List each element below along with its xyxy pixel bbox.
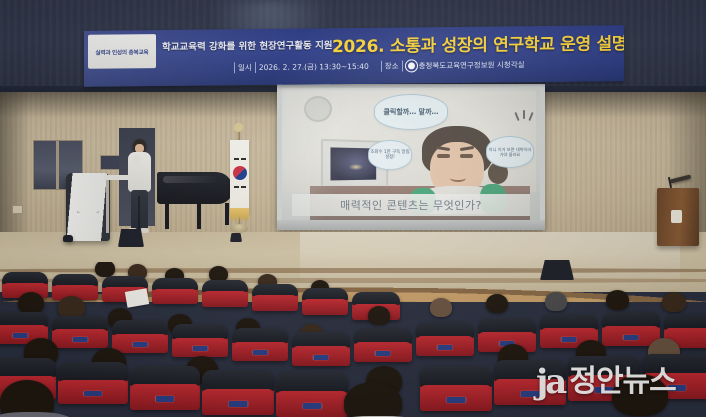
seat[interactable]	[292, 332, 350, 366]
audience-head	[430, 298, 452, 317]
seat[interactable]	[130, 366, 200, 410]
slide-caption: 매력적인 콘텐츠는 무엇인가?	[292, 194, 530, 216]
seat[interactable]	[302, 288, 348, 315]
event-banner: 실력과 인성의 충북교육 학교교육력 강화를 위한 현장연구활동 지원 2026…	[84, 25, 624, 87]
seat-back	[130, 366, 200, 386]
handout-paper	[125, 288, 149, 308]
seat-back	[494, 360, 566, 381]
banner-place-label: 장소	[381, 60, 403, 71]
seat-number-plate	[623, 335, 638, 340]
stage-monitor-speaker	[230, 233, 242, 242]
stage-equipment	[63, 235, 73, 242]
audience-head	[606, 290, 629, 310]
speech-bubble-main: 클릭할까… 말까…	[374, 94, 448, 130]
seat[interactable]	[202, 370, 274, 415]
seat-back	[232, 328, 288, 343]
seat-back	[276, 372, 348, 393]
grand-piano	[157, 172, 233, 232]
seat[interactable]	[602, 312, 660, 346]
banner-title: 2026. 소통과 성장의 연구학교 운영 설명회	[332, 29, 624, 57]
projection-screen-surface: 클릭할까… 말까… 조회수 1만 구독 알림설정! 아니 이거 보면 대박이라 …	[282, 88, 540, 220]
audience-head	[95, 262, 115, 277]
seat[interactable]	[152, 278, 198, 304]
clock-icon	[304, 96, 332, 122]
seat-back	[112, 320, 168, 335]
seat-number-plate	[313, 355, 328, 360]
seat-back	[602, 312, 660, 328]
seat[interactable]	[354, 328, 412, 362]
seat-number-plate	[156, 396, 174, 402]
sweat-drops-icon	[514, 110, 534, 126]
side-table-leg	[106, 180, 109, 233]
child-eye-left	[437, 154, 450, 158]
banner-place-value: 충청북도교육연구정보원 시청각실	[419, 59, 525, 71]
trigram	[241, 186, 246, 188]
seat-back	[540, 314, 598, 330]
wooden-lectern	[657, 188, 699, 246]
audience-head	[612, 374, 668, 416]
seat-number-plate	[668, 385, 686, 391]
seat[interactable]	[232, 328, 288, 361]
seat-back	[568, 356, 640, 377]
flag-finial	[234, 123, 243, 132]
seat-back	[642, 354, 706, 375]
seat[interactable]	[58, 362, 128, 404]
audience-head	[486, 294, 508, 313]
lectern-emblem	[671, 210, 682, 223]
photo-scene: 클릭할까… 말까… 조회수 1만 구독 알림설정! 아니 이거 보면 대박이라 …	[0, 0, 706, 417]
piano-lid-highlight	[163, 176, 219, 183]
screen-bottom-bar	[277, 220, 545, 230]
audience-head	[662, 292, 686, 312]
audience-shoulders	[0, 412, 74, 417]
piano-body	[157, 172, 233, 204]
seat-back	[416, 322, 474, 338]
seat-number-plate	[13, 333, 28, 338]
child-mouth	[450, 174, 466, 182]
audience-head	[368, 306, 390, 325]
banner-logo-text: 실력과 인성의 충북교육	[96, 47, 149, 56]
banner-subtitle: 학교교육력 강화를 위한 현장연구활동 지원	[162, 37, 333, 53]
seat-number-plate	[84, 391, 102, 397]
audience-head	[545, 292, 567, 311]
wall-outlet	[12, 205, 23, 214]
audience-head	[344, 382, 402, 417]
seat-number-plate	[253, 350, 268, 355]
seat[interactable]	[252, 284, 298, 311]
seat-number-plate	[133, 342, 148, 347]
stage-monitor-speaker	[118, 229, 144, 247]
speech-bubble-right: 아니 이거 보면 대박이라 가야 몰라요	[486, 136, 534, 168]
seat-cushion	[252, 295, 298, 311]
seat-number-plate	[437, 345, 452, 350]
piano-leg	[165, 203, 169, 229]
seat-number-plate	[73, 337, 88, 342]
taeguk-symbol	[233, 166, 247, 180]
seat[interactable]	[276, 372, 348, 417]
seat[interactable]	[52, 316, 108, 348]
banner-date-label: 일시	[234, 62, 256, 73]
wall-left-shadow	[0, 92, 30, 244]
banner-place-group: 장소 충청북도교육연구정보원 시청각실	[381, 59, 525, 72]
korean-national-flag	[226, 128, 252, 236]
presenter-trousers	[131, 190, 148, 230]
podium-logo	[77, 195, 99, 213]
trigram	[234, 186, 239, 188]
seat-number-plate	[303, 403, 322, 409]
speech-bubble-left: 조회수 1만 구독 알림설정!	[368, 140, 412, 170]
seat-back	[352, 292, 400, 305]
bullet-icon	[406, 60, 417, 71]
seat[interactable]	[420, 366, 492, 411]
seat-cushion	[152, 289, 198, 304]
seat-number-plate	[375, 351, 390, 356]
seat-number-plate	[193, 346, 208, 351]
seat-back	[664, 314, 706, 330]
flag-stand-base	[230, 224, 248, 233]
projection-screen: 클릭할까… 말까… 조회수 1만 구독 알림설정! 아니 이거 보면 대박이라 …	[277, 84, 545, 230]
banner-info-row: 일시 2026. 2. 27.(금) 13:30~15:40 장소 충청북도교육…	[234, 59, 525, 73]
seat-number-plate	[595, 387, 614, 393]
presentation-slide: 클릭할까… 말까… 조회수 1만 구독 알림설정! 아니 이거 보면 대박이라 …	[282, 88, 540, 220]
seat-back	[0, 358, 56, 377]
seat-number-plate	[561, 337, 576, 342]
laptop-screen-content	[349, 164, 363, 170]
flag-cloth	[230, 140, 249, 214]
seat-back	[172, 324, 228, 339]
piano-leg	[197, 203, 201, 229]
audience-head	[18, 292, 44, 314]
seat[interactable]	[202, 280, 248, 307]
seat-cushion	[202, 291, 248, 307]
trigram	[234, 158, 239, 160]
seat-back	[58, 362, 128, 381]
banner-logo: 실력과 인성의 충북교육	[88, 34, 156, 69]
seat-number-plate	[229, 401, 248, 407]
microphone-icon	[669, 177, 691, 188]
child-eye-right	[460, 154, 473, 158]
trigram	[241, 158, 246, 160]
seat-back	[478, 318, 536, 334]
seat[interactable]	[172, 324, 228, 357]
seat[interactable]	[494, 360, 566, 405]
audience-seating	[0, 262, 706, 417]
seat-cushion	[302, 299, 348, 315]
seat-number-plate	[521, 391, 540, 397]
seat-back	[354, 328, 412, 344]
seat-back	[292, 332, 350, 348]
presenter	[127, 139, 151, 235]
seat[interactable]	[416, 322, 474, 356]
seat-back	[420, 366, 492, 387]
window-mullion	[56, 141, 59, 189]
seat-number-plate	[447, 397, 466, 403]
banner-date-value: 2026. 2. 27.(금) 13:30~15:40	[259, 61, 369, 73]
seat[interactable]	[112, 320, 168, 353]
banner-date-group: 일시 2026. 2. 27.(금) 13:30~15:40	[234, 61, 369, 73]
seat-back	[202, 370, 274, 391]
